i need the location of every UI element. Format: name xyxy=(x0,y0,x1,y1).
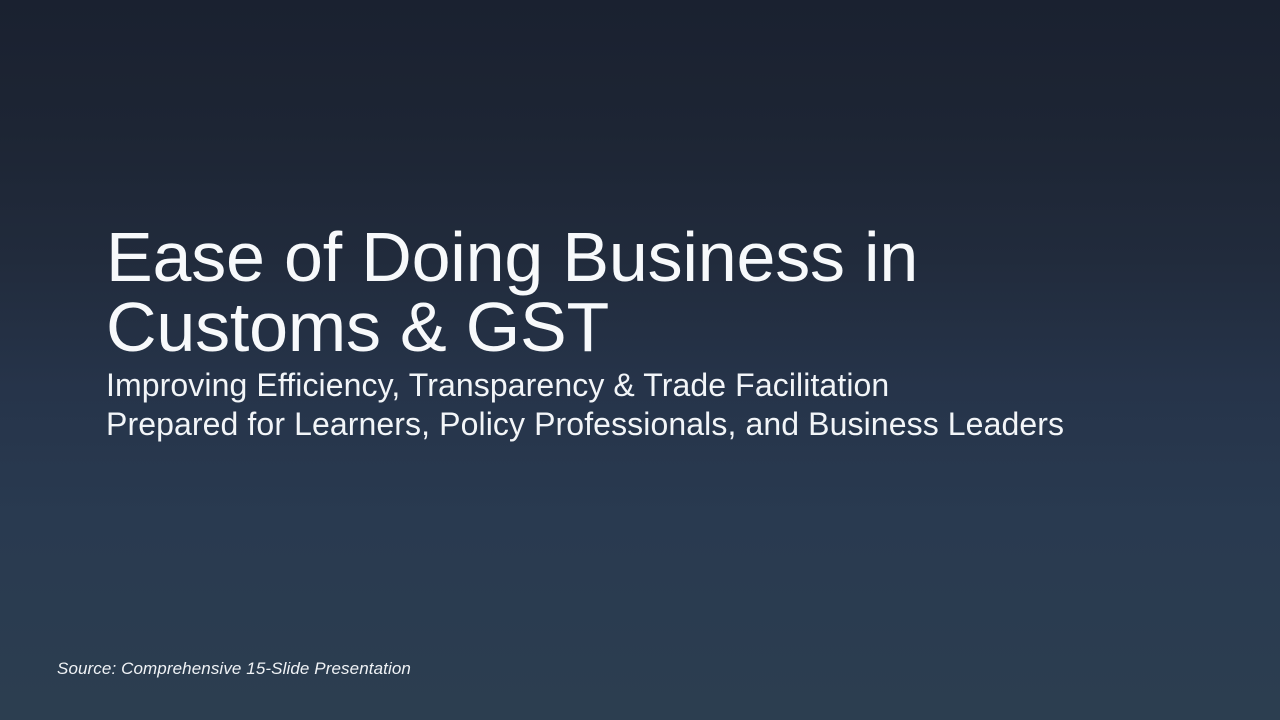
title-slide: Ease of Doing Business in Customs & GST … xyxy=(0,0,1280,720)
source-note: Source: Comprehensive 15-Slide Presentat… xyxy=(57,658,411,680)
title-block: Ease of Doing Business in Customs & GST … xyxy=(106,222,1116,444)
page-title: Ease of Doing Business in Customs & GST xyxy=(106,222,1116,362)
subtitle-line-1: Improving Efficiency, Transparency & Tra… xyxy=(106,366,1116,405)
subtitle-line-2: Prepared for Learners, Policy Profession… xyxy=(106,405,1116,444)
subtitle-group: Improving Efficiency, Transparency & Tra… xyxy=(106,366,1116,444)
